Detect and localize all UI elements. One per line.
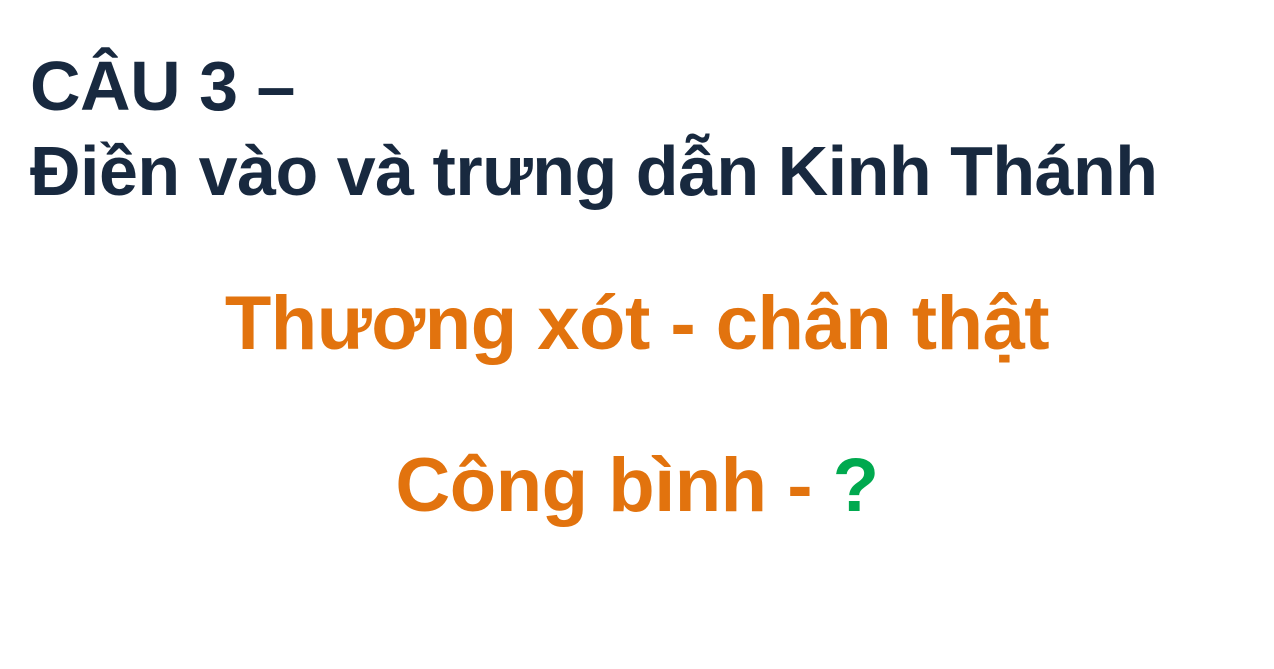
answer-line-two: Công bình - ?: [0, 442, 1274, 529]
heading-line-instruction: Điền vào và trưng dẫn Kinh Thánh: [30, 129, 1244, 214]
answer-line-two-label: Công bình -: [395, 443, 832, 528]
answer-line-two-blank-question-mark: ?: [833, 443, 879, 528]
answer-line-one: Thương xót - chân thật: [0, 280, 1274, 367]
answer-block: Thương xót - chân thật Công bình - ?: [0, 280, 1274, 530]
heading-line-question-number: CÂU 3 –: [30, 44, 1244, 129]
slide-canvas: CÂU 3 – Điền vào và trưng dẫn Kinh Thánh…: [0, 0, 1274, 669]
heading-block: CÂU 3 – Điền vào và trưng dẫn Kinh Thánh: [30, 44, 1244, 215]
